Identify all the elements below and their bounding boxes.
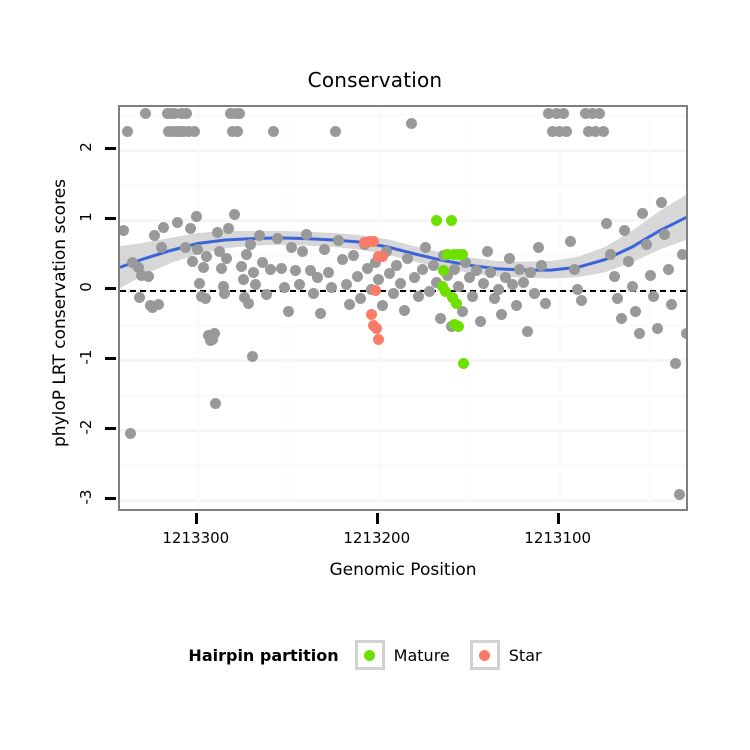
x-axis: 121330012132001213100 [118,513,688,527]
legend-title: Hairpin partition [188,646,338,665]
data-point-other [247,351,258,362]
x-axis-tick-label: 1213300 [141,529,251,547]
data-point-other [605,249,616,260]
data-point-other [623,256,634,267]
data-point-mature [451,298,462,309]
data-point-other [659,229,670,240]
x-axis-tick-label: 1213100 [503,529,613,547]
data-point-other [348,250,359,261]
data-point-other [265,264,276,275]
data-point-other [283,306,294,317]
data-point-other [200,293,211,304]
plot-panel [118,105,688,511]
data-point-star [368,236,379,247]
data-point-other [312,272,323,283]
data-point-star [370,285,381,296]
y-axis-tick [105,287,116,290]
conservation-plot: Conservation phyloP LRT conservation sco… [0,0,750,750]
data-point-other [616,313,627,324]
data-point-other [572,284,583,295]
data-point-other [504,253,515,264]
data-point-other [533,242,544,253]
data-point-other [475,316,486,327]
y-axis-tick-label: -3 [77,482,95,512]
y-axis-tick [105,497,116,500]
data-point-other [656,197,667,208]
data-point-mature [446,215,457,226]
data-point-other [209,328,220,339]
legend-dot-mature [364,650,375,661]
data-point-other [467,291,478,302]
data-point-other [180,242,191,253]
data-point-other [323,267,334,278]
legend-label-star: Star [509,646,542,665]
data-point-other [435,313,446,324]
data-point-other [413,291,424,302]
data-point-other [216,263,227,274]
x-axis-tick [376,513,379,524]
data-point-other [187,256,198,267]
data-point-other [194,278,205,289]
data-point-other [276,263,287,274]
legend-key-mature[interactable] [355,640,385,670]
x-axis-tick [557,513,560,524]
data-point-other [234,108,245,119]
x-axis-label: Genomic Position [118,560,688,580]
data-point-other [158,222,169,233]
data-point-other [627,281,638,292]
y-axis-tick-label: 0 [77,272,95,302]
data-point-other [301,229,312,240]
data-point-other [238,274,249,285]
y-axis-tick [105,217,116,220]
data-point-other [229,209,240,220]
y-axis-tick-label: -1 [77,342,95,372]
data-point-other [198,262,209,273]
legend-dot-star [479,650,490,661]
data-point-other [341,279,352,290]
y-axis-label: phyloP LRT conservation scores [50,110,70,516]
data-point-other [493,284,504,295]
confidence-band [120,192,688,288]
data-point-other [428,260,439,271]
data-point-other [189,126,200,137]
x-axis-tick [195,513,198,524]
data-point-other [594,108,605,119]
data-point-other [674,489,685,500]
data-point-mature [431,215,442,226]
data-point-other [399,305,410,316]
data-point-other [140,108,151,119]
data-point-other [645,270,656,281]
data-point-other [569,264,580,275]
data-point-other [333,235,344,246]
data-point-other [417,264,428,275]
y-axis-tick-label: 2 [77,132,95,162]
data-point-other [558,108,569,119]
data-point-other [212,227,223,238]
y-axis-tick-label: 1 [77,202,95,232]
data-point-other [153,299,164,310]
data-point-other [598,126,609,137]
y-axis-tick [105,357,116,360]
data-point-other [122,126,133,137]
data-point-other [681,328,688,339]
data-point-other [522,326,533,337]
data-point-other [540,298,551,309]
data-point-other [191,211,202,222]
data-point-other [395,278,406,289]
data-point-other [420,242,431,253]
data-point-other [518,277,529,288]
data-point-other [272,233,283,244]
data-point-other [245,239,256,250]
data-point-other [330,126,341,137]
x-axis-tick-label: 1213200 [322,529,432,547]
legend: Hairpin partition Mature Star [0,640,750,670]
data-point-other [243,298,254,309]
data-point-other [648,291,659,302]
data-point-other [565,236,576,247]
data-point-other [677,249,688,260]
y-axis-tick [105,427,116,430]
data-point-other [663,264,674,275]
data-point-other [286,242,297,253]
plot-title: Conservation [0,68,750,92]
data-point-mature [457,249,468,260]
legend-key-star[interactable] [470,640,500,670]
data-point-other [236,261,247,272]
data-point-other [352,271,363,282]
data-point-other [294,279,305,290]
data-point-other [609,271,620,282]
legend-label-mature: Mature [394,646,450,665]
data-point-other [156,242,167,253]
data-point-other [391,260,402,271]
y-axis-tick [105,147,116,150]
y-axis-tick-label: -2 [77,412,95,442]
